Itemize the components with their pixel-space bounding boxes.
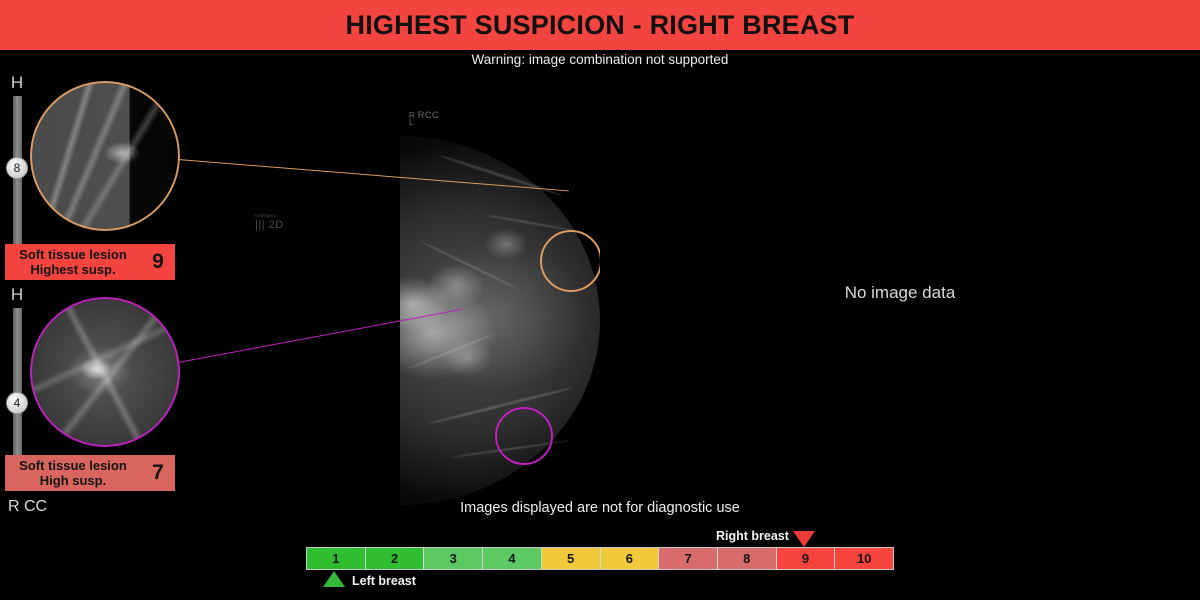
page-title: HIGHEST SUSPICION - RIGHT BREAST xyxy=(346,10,855,41)
annotation-circle-lesion-2[interactable] xyxy=(495,407,553,465)
finding-label-1-line1: Soft tissue lesion xyxy=(19,247,127,262)
annotation-circle-lesion-1[interactable] xyxy=(540,230,600,292)
magnified-roi-2[interactable] xyxy=(30,297,180,447)
finding-label-2: Soft tissue lesion High susp. xyxy=(5,458,141,488)
left-breast-marker-label: Left breast xyxy=(352,574,416,588)
score-cell-2[interactable]: 2 xyxy=(366,548,425,569)
finding-chip-1[interactable]: Soft tissue lesion Highest susp. 9 xyxy=(5,244,175,280)
slider-head-label-1: H xyxy=(6,74,28,91)
score-cell-4[interactable]: 4 xyxy=(483,548,542,569)
watermark-mark: ||| 2D xyxy=(255,220,284,231)
intelligent-2d-watermark: Intelligent ||| 2D xyxy=(255,214,284,231)
finding-label-2-line2: High susp. xyxy=(40,473,106,488)
magnified-roi-1[interactable] xyxy=(30,81,180,231)
right-breast-marker: Right breast xyxy=(0,529,1200,547)
score-cell-9[interactable]: 9 xyxy=(777,548,836,569)
finding-chip-2[interactable]: Soft tissue lesion High susp. 7 xyxy=(5,455,175,491)
score-cell-1[interactable]: 1 xyxy=(307,548,366,569)
right-breast-marker-triangle-icon xyxy=(793,531,815,547)
laterality-left: L xyxy=(409,118,414,127)
mammogram-image[interactable] xyxy=(400,136,600,505)
score-cell-7[interactable]: 7 xyxy=(659,548,718,569)
roi-ring-2 xyxy=(30,297,180,447)
score-cell-5[interactable]: 5 xyxy=(542,548,601,569)
left-breast-marker-triangle-icon xyxy=(323,571,345,587)
suspicion-score-scale[interactable]: 1 2 3 4 5 6 7 8 9 10 xyxy=(306,547,894,570)
warning-message: Warning: image combination not supported xyxy=(0,52,1200,67)
score-cell-6[interactable]: 6 xyxy=(601,548,660,569)
disclaimer-message: Images displayed are not for diagnostic … xyxy=(0,500,1200,516)
finding-label-1: Soft tissue lesion Highest susp. xyxy=(5,247,141,277)
slider-handle-2[interactable]: 4 xyxy=(6,392,28,414)
score-cell-8[interactable]: 8 xyxy=(718,548,777,569)
laterality-view-code: RCC xyxy=(418,110,439,121)
watermark-product-name: Intelligent xyxy=(255,214,284,219)
slider-track-2[interactable] xyxy=(13,308,22,464)
mammogram-viewport[interactable]: R RCC L Intelligent ||| 2D xyxy=(400,70,600,505)
right-breast-marker-label: Right breast xyxy=(716,529,789,543)
finding-label-2-line1: Soft tissue lesion xyxy=(19,458,127,473)
finding-score-1: 9 xyxy=(141,250,175,274)
left-breast-marker: Left breast xyxy=(0,571,1200,591)
roi-ring-1 xyxy=(30,81,180,231)
score-cell-3[interactable]: 3 xyxy=(424,548,483,569)
slider-head-label-2: H xyxy=(6,286,28,303)
empty-pane-message: No image data xyxy=(760,283,1040,303)
finding-label-1-line2: Highest susp. xyxy=(30,262,115,277)
dicom-laterality-overlay: R RCC L xyxy=(409,112,439,126)
slider-handle-1[interactable]: 8 xyxy=(6,157,28,179)
header-banner: HIGHEST SUSPICION - RIGHT BREAST xyxy=(0,0,1200,50)
score-cell-10[interactable]: 10 xyxy=(835,548,893,569)
finding-score-2: 7 xyxy=(141,461,175,485)
